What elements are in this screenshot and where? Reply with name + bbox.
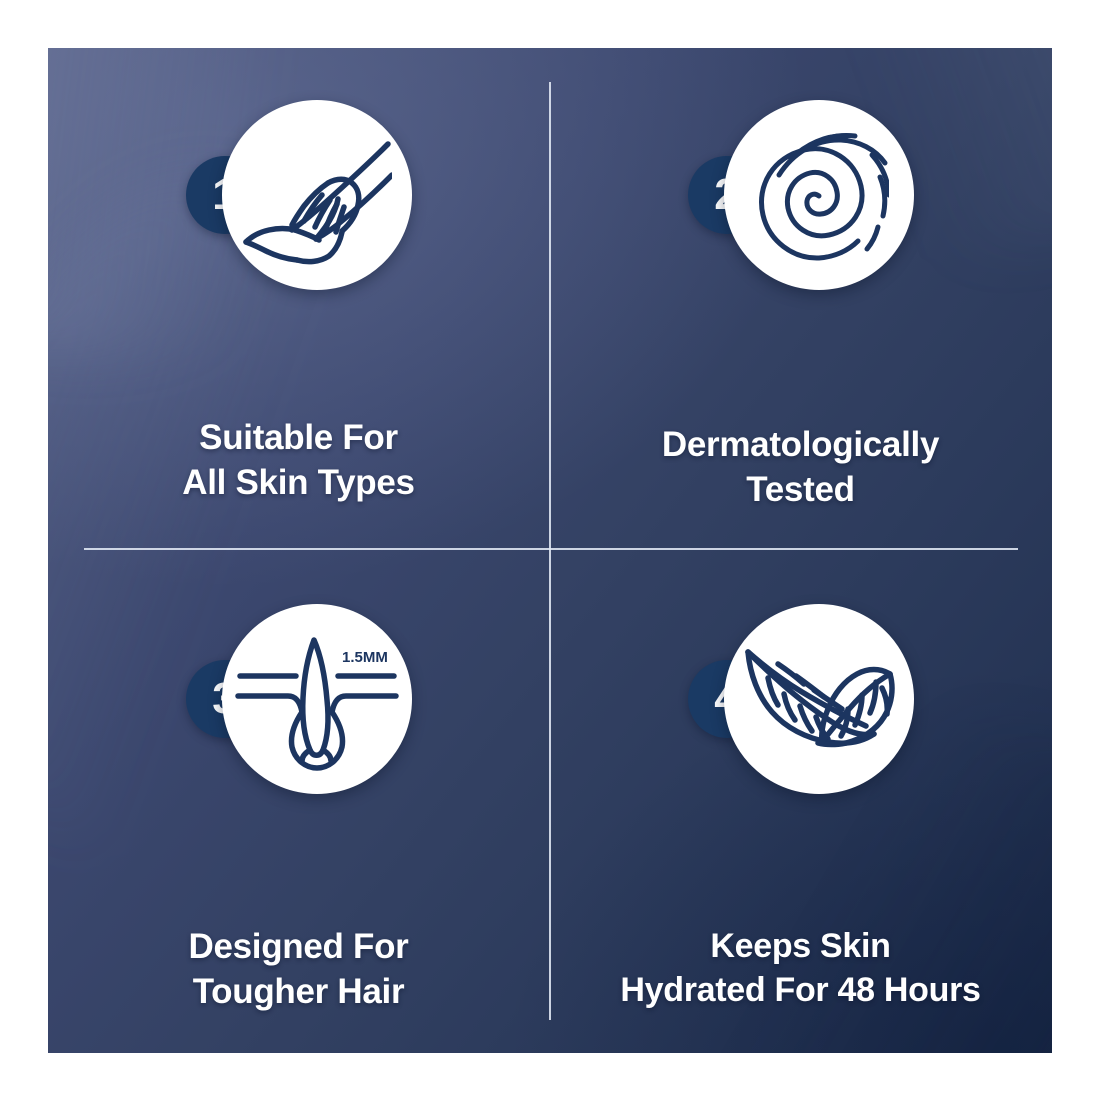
- benefit-2-icon-row: 2: [549, 100, 1052, 290]
- benefit-card-2: 2 Dermatologically: [549, 48, 1052, 548]
- benefit-3-caption-line-1: Designed For: [70, 925, 527, 970]
- benefits-grid: 1: [48, 48, 1052, 1053]
- hand-on-leg-icon: [222, 100, 412, 290]
- hair-follicle-icon: 1.5MM: [222, 604, 412, 794]
- benefit-1-caption-line-1: Suitable For: [70, 416, 527, 461]
- benefit-2-caption: Dermatologically Tested: [549, 423, 1052, 513]
- benefit-card-1: 1: [48, 48, 549, 548]
- benefit-2-caption-line-1: Dermatologically: [571, 423, 1030, 468]
- fingerprint-icon: [724, 100, 914, 290]
- benefit-3-caption-line-2: Tougher Hair: [70, 970, 527, 1015]
- benefit-2-caption-line-2: Tested: [571, 468, 1030, 513]
- benefit-4-icon-row: 4: [549, 604, 1052, 794]
- benefit-3-caption: Designed For Tougher Hair: [48, 925, 549, 1015]
- benefit-1-caption-line-2: All Skin Types: [70, 461, 527, 506]
- benefit-1-icon-row: 1: [48, 100, 549, 290]
- benefit-4-caption-line-1: Keeps Skin: [571, 925, 1030, 969]
- benefit-card-3: 3: [48, 548, 549, 1053]
- benefit-1-caption: Suitable For All Skin Types: [48, 416, 549, 506]
- follicle-measurement-label: 1.5MM: [342, 649, 388, 666]
- benefit-4-caption: Keeps Skin Hydrated For 48 Hours: [549, 925, 1052, 1012]
- benefit-4-caption-line-2: Hydrated For 48 Hours: [571, 969, 1030, 1013]
- benefit-3-icon-row: 3: [48, 604, 549, 794]
- benefit-card-4: 4: [549, 548, 1052, 1053]
- feather-leaf-icon: [724, 604, 914, 794]
- benefits-infographic-panel: 1: [48, 48, 1052, 1053]
